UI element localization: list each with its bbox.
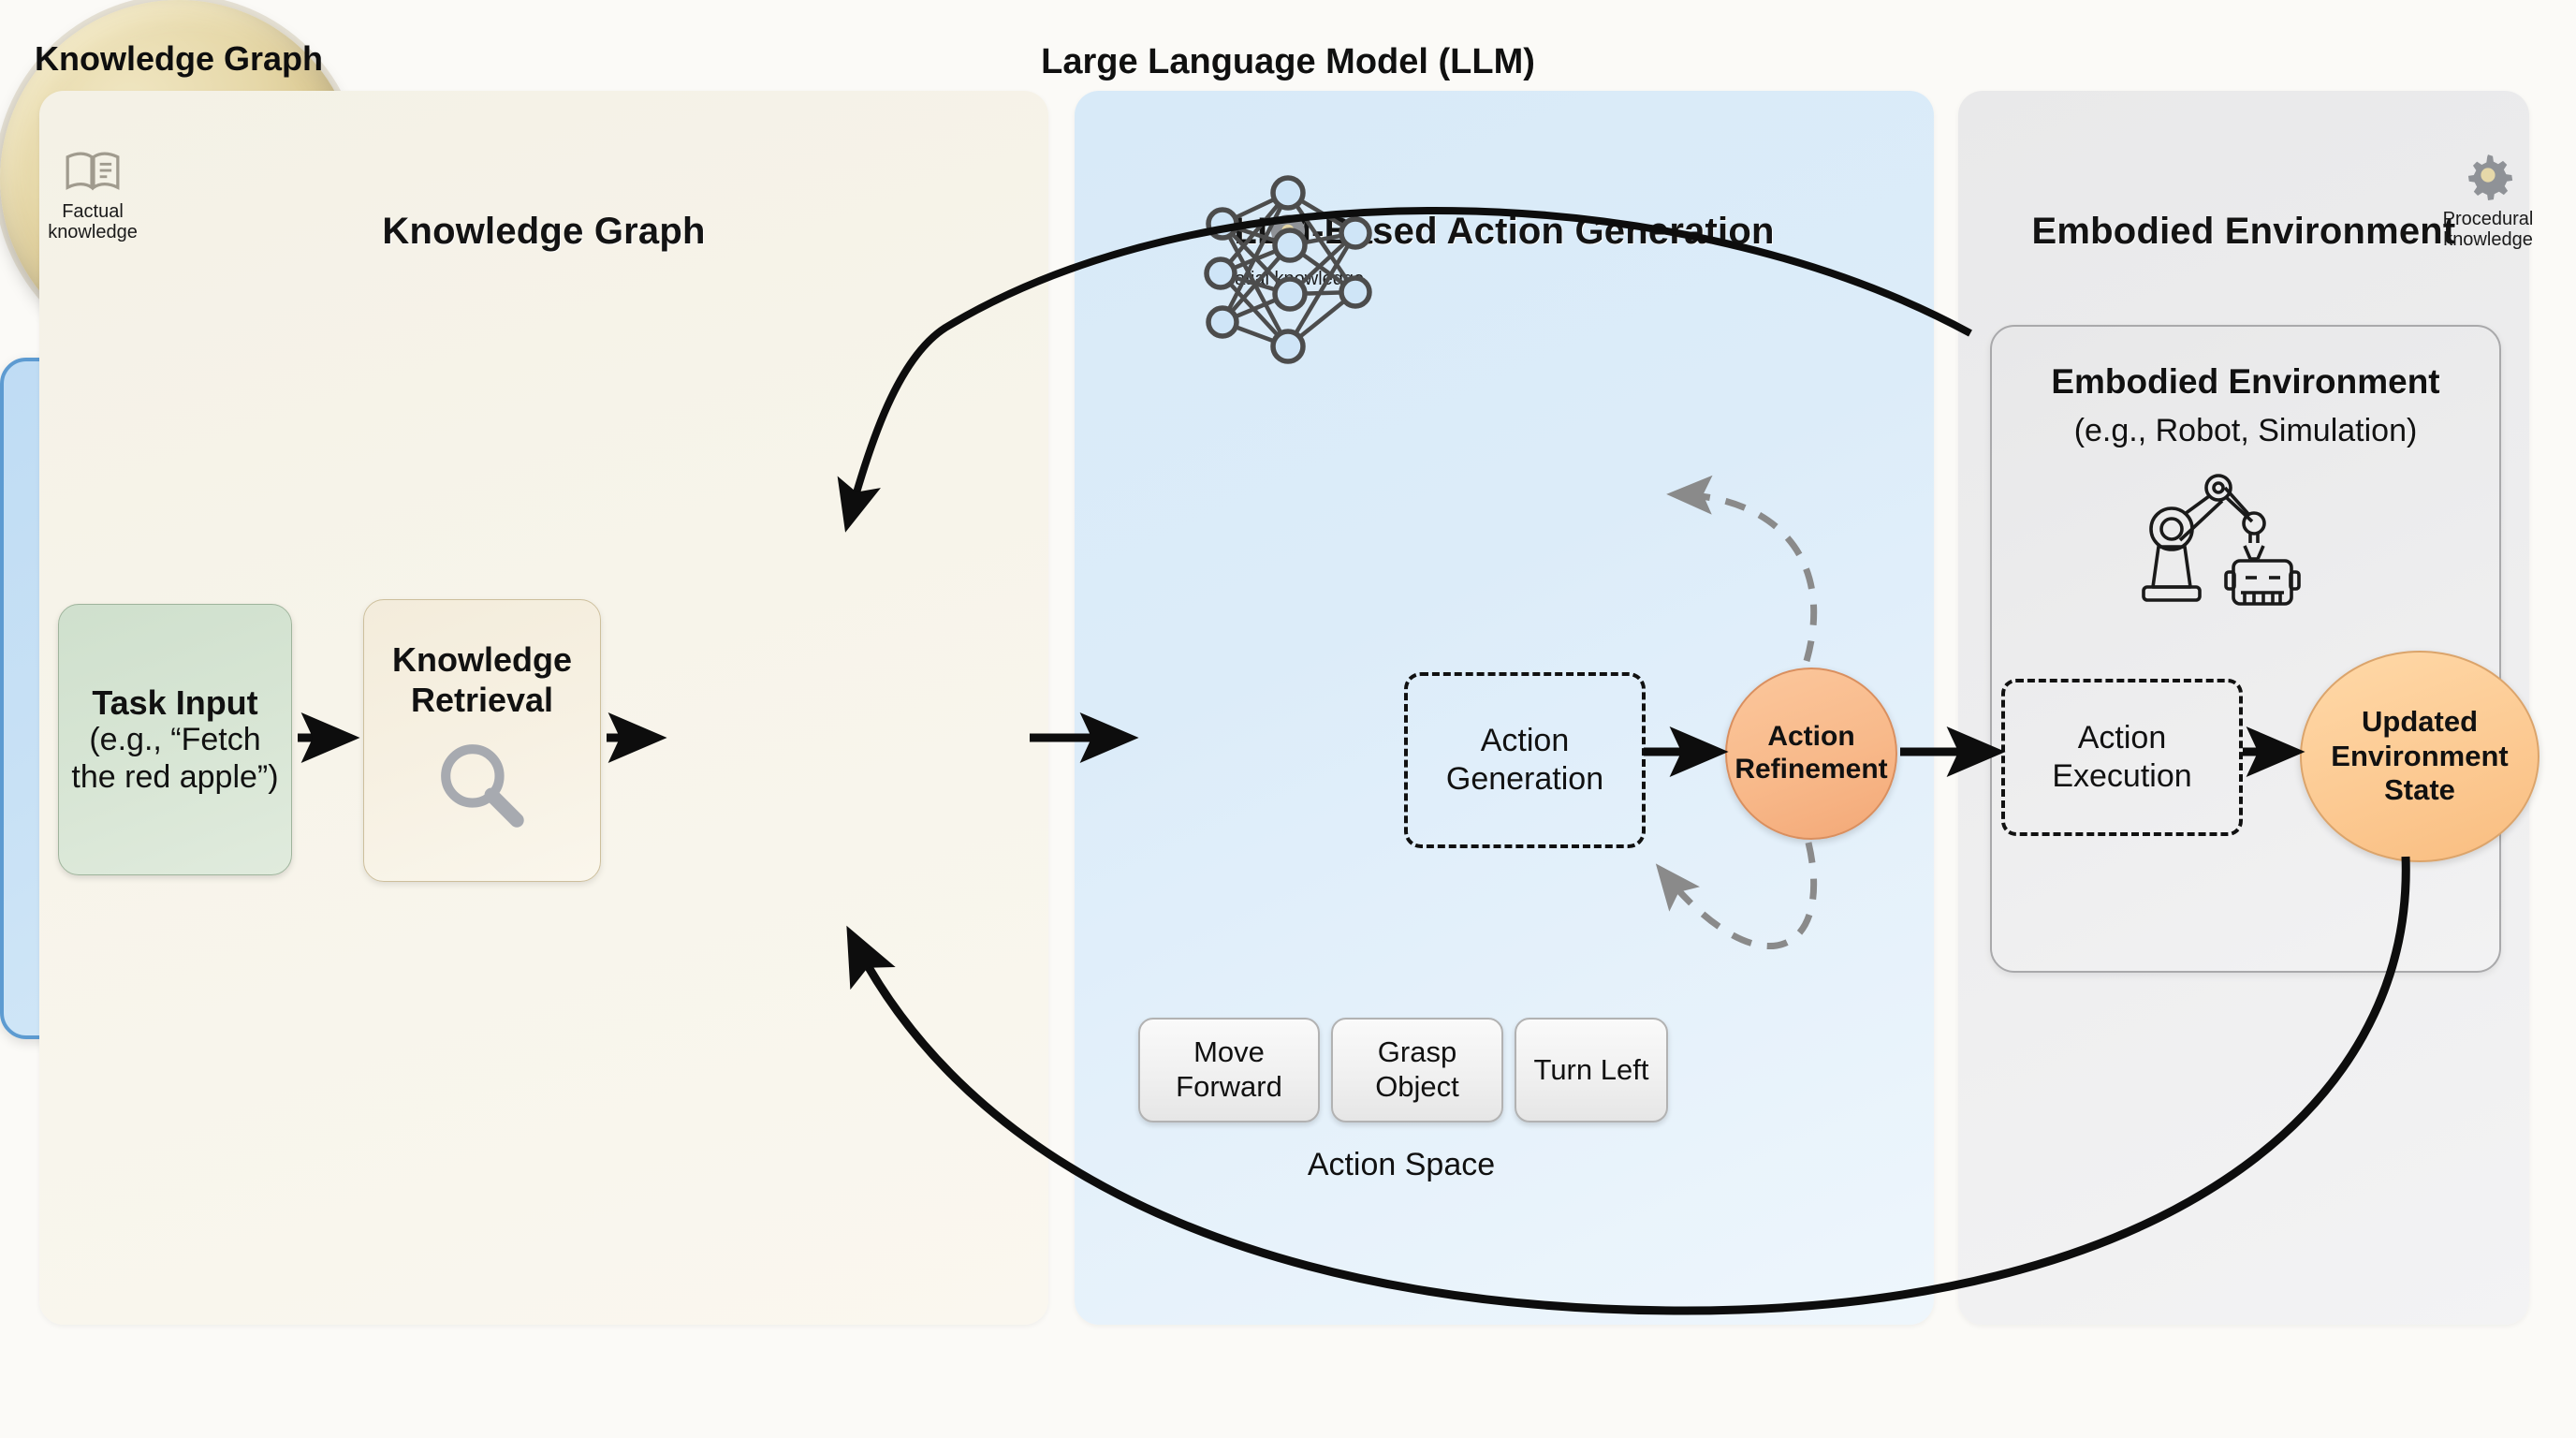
knowledge-retrieval-node[interactable]: Knowledge Retrieval: [363, 599, 601, 882]
action-space-label: Action Space: [1138, 1147, 1664, 1183]
action-button-move-forward[interactable]: Move Forward: [1138, 1018, 1320, 1123]
action-execution-node[interactable]: Action Execution: [2001, 679, 2243, 836]
action-generation-label: Action Generation: [1408, 722, 1642, 799]
action-refinement-label: Action Refinement: [1727, 721, 1895, 786]
gear-icon: [2413, 150, 2563, 206]
action-button-move-forward-label: Move Forward: [1140, 1035, 1318, 1104]
open-book-icon: [22, 150, 163, 198]
diagram-canvas: Knowledge Graph LLM-Based Action Generat…: [0, 0, 2576, 1438]
magnifier-icon: [432, 735, 533, 841]
embodied-environment-node[interactable]: Embodied Environment (e.g., Robot, Simul…: [1990, 325, 2501, 973]
kg-facet-factual-label: Factual knowledge: [48, 201, 138, 243]
task-input-node[interactable]: Task Input (e.g., “Fetch the red apple”): [58, 604, 292, 875]
action-refinement-node[interactable]: Action Refinement: [1725, 668, 1897, 840]
kg-facet-procedural: Procedural knowledge: [2413, 150, 2563, 251]
neural-network-icon: [1185, 172, 1391, 374]
action-button-grasp-object[interactable]: Grasp Object: [1331, 1018, 1503, 1123]
robot-icon-group: [2129, 467, 2363, 612]
llm-title: Large Language Model (LLM): [0, 41, 2576, 82]
robot-arm-icon: [2144, 476, 2264, 600]
embodied-environment-title: Embodied Environment: [1992, 362, 2499, 402]
action-generation-node[interactable]: Action Generation: [1404, 672, 1646, 848]
action-execution-label: Action Execution: [2005, 719, 2239, 796]
action-button-grasp-object-label: Grasp Object: [1333, 1035, 1501, 1104]
kg-facet-procedural-label: Procedural knowledge: [2443, 209, 2534, 251]
task-input-example: (e.g., “Fetch the red apple”): [68, 722, 282, 796]
panel-title-knowledge-graph: Knowledge Graph: [39, 211, 1048, 253]
embodied-environment-subtitle: (e.g., Robot, Simulation): [1992, 413, 2499, 449]
updated-environment-state-label: Updated Environment State: [2302, 705, 2538, 808]
updated-environment-state-node[interactable]: Updated Environment State: [2300, 651, 2539, 862]
action-button-turn-left-label: Turn Left: [1534, 1053, 1649, 1088]
task-input-title: Task Input: [92, 683, 257, 723]
action-button-turn-left[interactable]: Turn Left: [1515, 1018, 1668, 1123]
knowledge-retrieval-title: Knowledge Retrieval: [364, 640, 600, 720]
robot-head-icon: [2226, 561, 2299, 604]
kg-facet-factual: Factual knowledge: [22, 150, 163, 243]
